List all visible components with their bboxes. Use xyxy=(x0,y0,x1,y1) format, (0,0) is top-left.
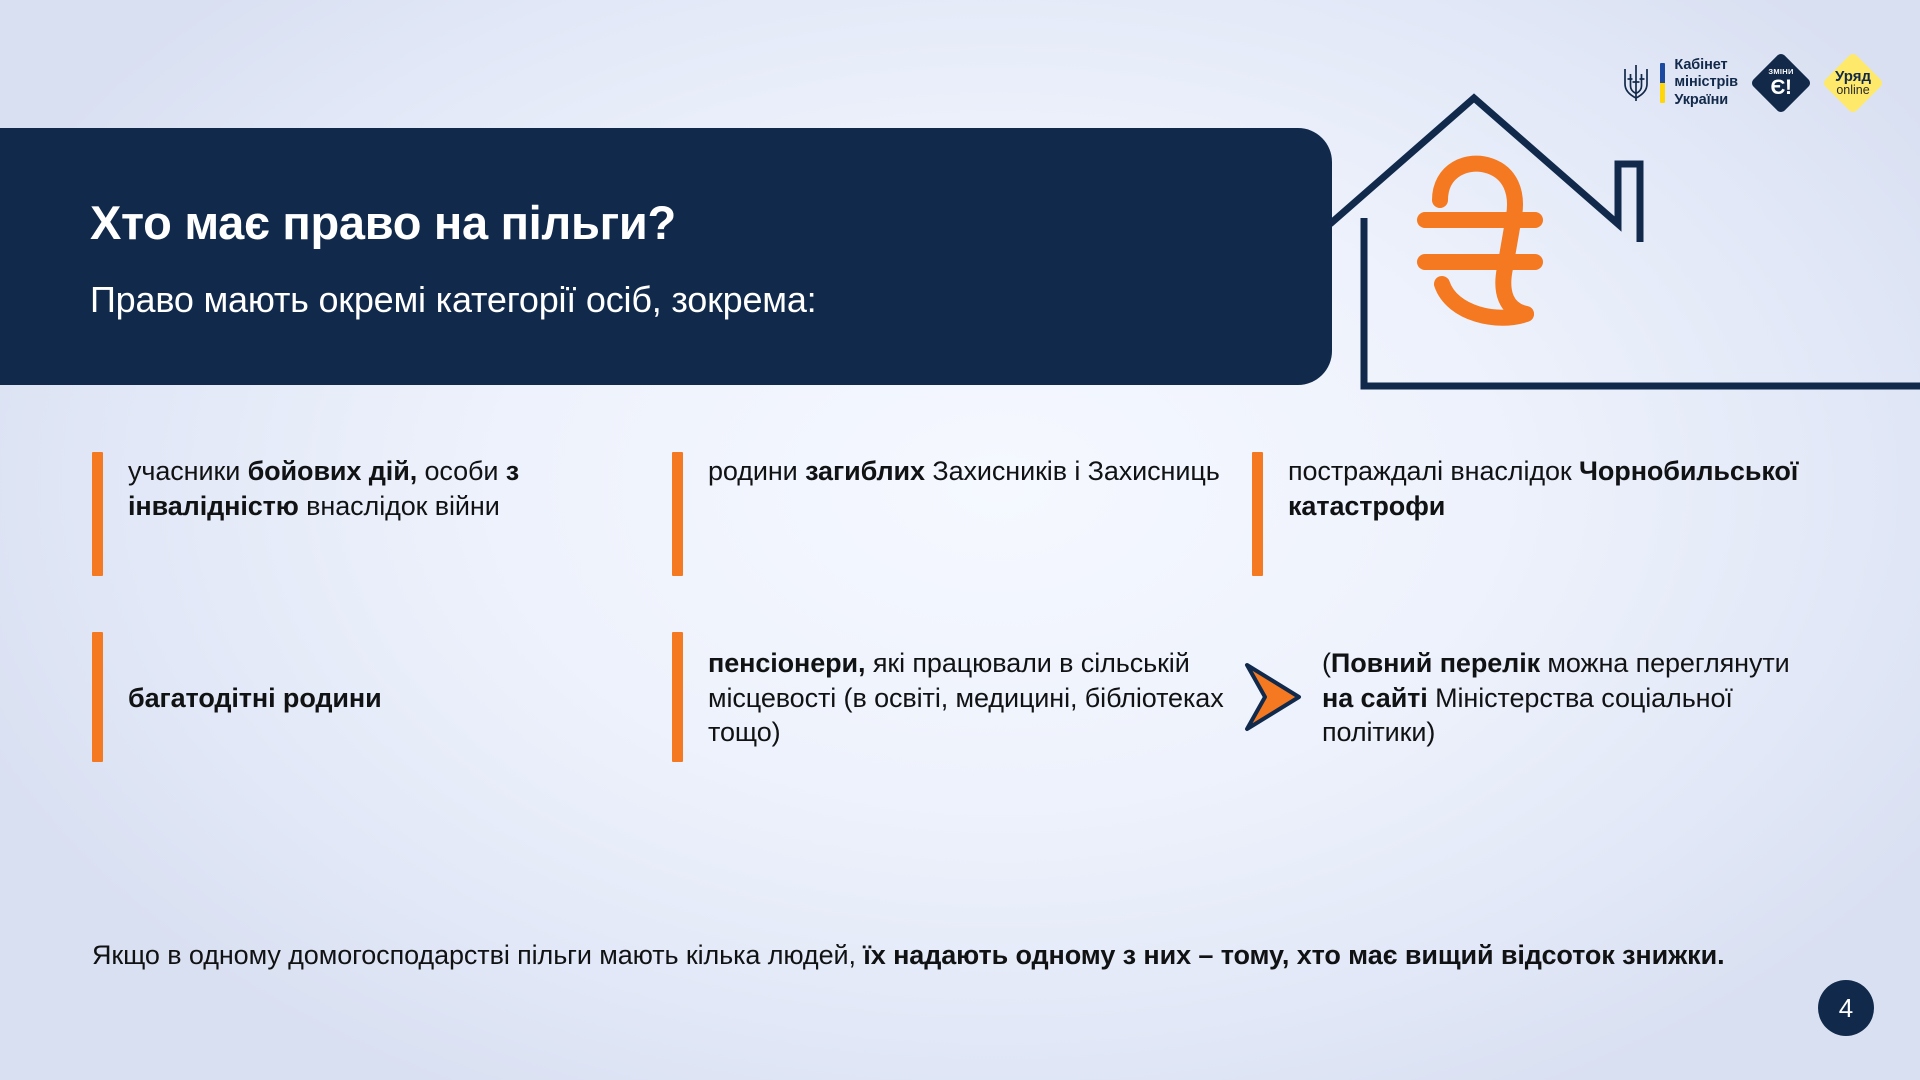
full-list-note: (Повний перелік можна переглянути на сай… xyxy=(1252,602,1860,792)
slide-root: Кабінет міністрів України ЗМІНИ Є! Уряд … xyxy=(0,0,1920,1080)
orange-accent-bar xyxy=(92,452,103,576)
orange-accent-bar xyxy=(92,632,103,762)
ukraine-trident-emblem xyxy=(1621,62,1651,104)
cmu-line-3: України xyxy=(1674,92,1738,109)
uryad-small-label: online xyxy=(1835,84,1871,97)
orange-accent-bar xyxy=(672,632,683,762)
category-text: родини загиблих Захисників і Захисниць xyxy=(708,452,1220,489)
category-text: учасники бойових дій, особи з інвалідніс… xyxy=(128,452,648,523)
page-subtitle: Право мають окремі категорії осіб, зокре… xyxy=(90,279,1272,320)
orange-accent-bar xyxy=(1252,452,1263,576)
chevron-right-icon xyxy=(1242,660,1306,734)
category-card-fallen-defenders-families: родини загиблих Захисників і Захисниць xyxy=(672,452,1252,602)
page-title: Хто має право на пільги? xyxy=(90,197,1272,249)
category-card-rural-pensioners: пенсіонери, які працювали в сільській мі… xyxy=(672,602,1252,792)
category-card-large-families: багатодітні родини xyxy=(92,602,672,792)
category-text: постраждалі внаслідок Чорнобильської кат… xyxy=(1288,452,1808,523)
categories-grid: учасники бойових дій, особи з інвалідніс… xyxy=(92,452,1860,792)
zminy-big-label: Є! xyxy=(1768,77,1793,98)
uryad-big-label: Уряд xyxy=(1835,69,1871,84)
footer-note: Якщо в одному домогосподарстві пільги ма… xyxy=(92,938,1782,974)
house-with-hryvnia-graphic xyxy=(1330,92,1920,392)
cmu-line-2: міністрів xyxy=(1674,74,1738,91)
cmu-line-1: Кабінет xyxy=(1674,57,1738,74)
cmu-flag-divider xyxy=(1660,63,1665,103)
uryad-online-logo: Уряд online xyxy=(1824,54,1882,112)
orange-accent-bar xyxy=(672,452,683,576)
header-panel: Хто має право на пільги? Право мають окр… xyxy=(0,128,1332,385)
full-list-note-text: (Повний перелік можна переглянути на сай… xyxy=(1322,644,1792,750)
cabinet-of-ministers-label: Кабінет міністрів України xyxy=(1674,57,1738,108)
page-number-badge: 4 xyxy=(1818,980,1874,1036)
zminy-small-label: ЗМІНИ xyxy=(1768,68,1793,76)
category-text: багатодітні родини xyxy=(128,679,382,716)
category-card-chornobyl-victims: постраждалі внаслідок Чорнобильської кат… xyxy=(1252,452,1860,602)
cabinet-of-ministers-logo: Кабінет міністрів України xyxy=(1621,57,1738,108)
category-card-combat-participants: учасники бойових дій, особи з інвалідніс… xyxy=(92,452,672,602)
zminy-ye-logo: ЗМІНИ Є! xyxy=(1752,54,1810,112)
logo-bar: Кабінет міністрів України ЗМІНИ Є! Уряд … xyxy=(1621,52,1882,114)
category-text: пенсіонери, які працювали в сільській мі… xyxy=(708,644,1228,750)
